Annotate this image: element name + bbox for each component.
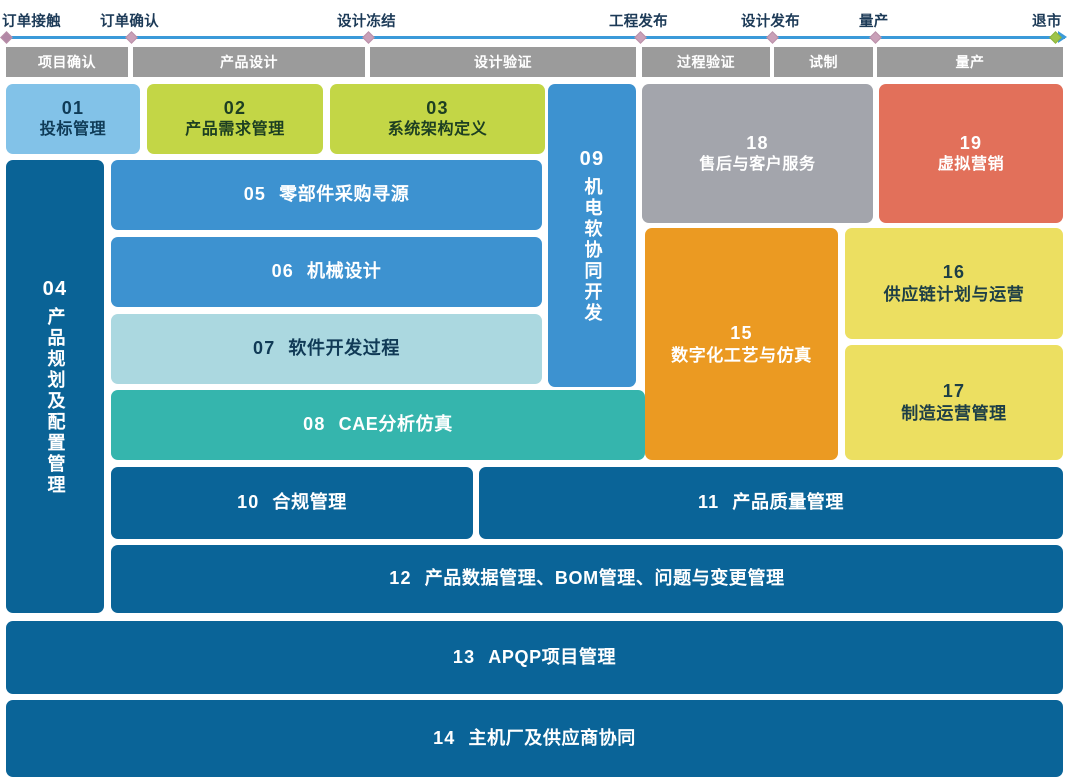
phase-cell: 试制: [774, 47, 873, 77]
block-number: 02: [224, 97, 246, 120]
block-number: 04: [43, 277, 68, 303]
timeline-milestone-label: 设计冻结: [337, 10, 396, 31]
timeline-milestone-label: 退市: [1032, 10, 1061, 31]
block-number: 19: [960, 132, 982, 155]
block-label: 供应链计划与运营: [884, 284, 1025, 306]
timeline-milestone-label: 设计发布: [741, 10, 800, 31]
phase-cell: 量产: [877, 47, 1063, 77]
block-label: 零部件采购寻源: [279, 183, 409, 206]
block-label: 机械设计: [307, 260, 381, 283]
capability-block-12[interactable]: 12产品数据管理、BOM管理、问题与变更管理: [111, 545, 1063, 613]
capability-block-10[interactable]: 10合规管理: [111, 467, 473, 539]
capability-block-08[interactable]: 08CAE分析仿真: [111, 390, 645, 460]
timeline-milestone-label: 工程发布: [609, 10, 668, 31]
block-number: 16: [943, 261, 965, 284]
block-number: 09: [580, 147, 605, 173]
timeline-milestone-marker: [0, 31, 13, 44]
block-label: 系统架构定义: [388, 120, 488, 140]
capability-block-11[interactable]: 11产品质量管理: [479, 467, 1063, 539]
capability-block-09[interactable]: 09机电软协同开发: [548, 84, 636, 387]
timeline-milestone-label: 订单接触: [2, 10, 61, 31]
timeline-milestone-label: 订单确认: [100, 10, 159, 31]
block-label: CAE分析仿真: [339, 413, 453, 436]
timeline-milestone-marker: [869, 31, 882, 44]
capability-block-17[interactable]: 17制造运营管理: [845, 345, 1063, 460]
capability-block-15[interactable]: 15数字化工艺与仿真: [645, 228, 838, 460]
capability-block-02[interactable]: 02产品需求管理: [147, 84, 323, 154]
capability-block-18[interactable]: 18售后与客户服务: [642, 84, 873, 223]
block-number: 15: [730, 322, 752, 345]
block-label: APQP项目管理: [488, 646, 616, 669]
process-map-diagram: 订单接触订单确认设计冻结工程发布设计发布量产退市 项目确认产品设计设计验证过程验…: [0, 0, 1069, 783]
capability-block-06[interactable]: 06机械设计: [111, 237, 542, 307]
block-number: 14: [433, 727, 455, 750]
phase-cell: 项目确认: [6, 47, 128, 77]
block-number: 12: [389, 567, 411, 590]
block-number: 18: [746, 132, 768, 155]
block-label: 制造运营管理: [901, 403, 1007, 425]
block-label: 售后与客户服务: [699, 155, 815, 175]
block-number: 01: [62, 97, 84, 120]
capability-block-03[interactable]: 03系统架构定义: [330, 84, 545, 154]
phase-cell: 产品设计: [133, 47, 365, 77]
timeline-milestone-marker: [766, 31, 779, 44]
capability-block-01[interactable]: 01投标管理: [6, 84, 140, 154]
block-number: 10: [237, 491, 259, 514]
capability-block-19[interactable]: 19虚拟营销: [879, 84, 1063, 223]
block-number: 07: [253, 337, 275, 360]
block-label: 软件开发过程: [288, 337, 400, 360]
block-number: 13: [453, 646, 475, 669]
timeline-milestone-marker: [125, 31, 138, 44]
block-number: 06: [272, 260, 294, 283]
block-label: 产品规划及配置管理: [43, 307, 66, 496]
capability-block-13[interactable]: 13APQP项目管理: [6, 621, 1063, 694]
capability-block-14[interactable]: 14主机厂及供应商协同: [6, 700, 1063, 777]
capability-block-05[interactable]: 05零部件采购寻源: [111, 160, 542, 230]
phase-cell: 过程验证: [642, 47, 770, 77]
block-number: 11: [698, 491, 719, 514]
block-label: 虚拟营销: [938, 155, 1004, 175]
timeline-axis: [4, 36, 1065, 39]
timeline-milestone-label: 量产: [859, 10, 888, 31]
block-label: 产品数据管理、BOM管理、问题与变更管理: [425, 567, 785, 590]
timeline-milestone-marker: [634, 31, 647, 44]
block-number: 03: [426, 97, 448, 120]
capability-block-07[interactable]: 07软件开发过程: [111, 314, 542, 384]
block-label: 主机厂及供应商协同: [469, 727, 636, 750]
timeline-milestone-marker: [362, 31, 375, 44]
block-label: 投标管理: [40, 120, 106, 140]
block-label: 机电软协同开发: [580, 177, 603, 324]
block-label: 产品质量管理: [732, 491, 844, 514]
block-label: 产品需求管理: [185, 120, 285, 140]
capability-block-16[interactable]: 16供应链计划与运营: [845, 228, 1063, 339]
block-number: 17: [943, 380, 965, 403]
block-label: 合规管理: [273, 491, 347, 514]
block-number: 08: [303, 413, 325, 436]
block-number: 05: [244, 183, 266, 206]
block-label: 数字化工艺与仿真: [671, 345, 812, 367]
phase-cell: 设计验证: [370, 47, 636, 77]
capability-block-04[interactable]: 04产品规划及配置管理: [6, 160, 104, 613]
